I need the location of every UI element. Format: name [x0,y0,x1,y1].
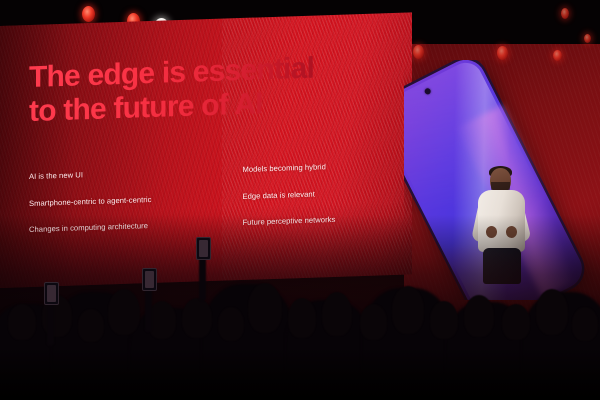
bullet-column-left: AI is the new UISmartphone-centric to ag… [29,167,220,236]
audience-raised-arm [145,286,152,332]
bullet-column-right: Models becoming hybridEdge data is relev… [242,161,389,228]
slide-bullet: Smartphone-centric to agent-centric [29,193,220,208]
audience-raised-phone [196,237,211,260]
slide-headline: The edge is essential to the future of A… [29,49,399,128]
screenshot-root: The edge is essential to the future of A… [0,0,600,400]
slide-bullet: Models becoming hybrid [242,161,389,175]
audience-raised-arm [47,300,54,346]
slide-bullet: Edge data is relevant [242,188,389,202]
phone-screen-glint [47,285,56,302]
phone-screen-glint [145,271,154,288]
phone-screen-glint [199,240,208,257]
presenter-hand-right [506,226,517,238]
slide-bullet: AI is the new UI [29,167,220,182]
slide-bullet: Future perceptive networks [242,215,389,229]
presenter-figure [470,168,536,280]
presenter-legs [483,248,521,284]
audience-raised-arm [199,255,206,301]
slide-bullet: Changes in computing architecture [29,220,220,235]
presenter-hand-left [486,226,497,238]
slide-bullets: AI is the new UISmartphone-centric to ag… [29,161,389,235]
audience-raised-phone [142,268,157,291]
presenter-torso [478,190,525,252]
audience-raised-phone [44,282,59,305]
